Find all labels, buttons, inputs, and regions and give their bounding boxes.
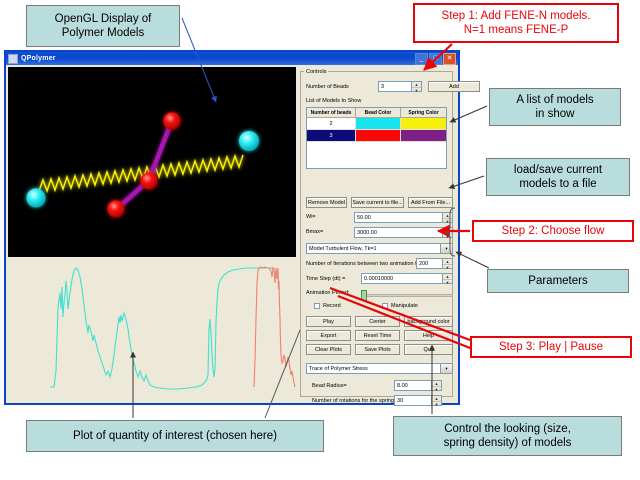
wi-label: Wi= — [306, 214, 316, 221]
window-titlebar[interactable]: QPolymer _ □ ✕ — [6, 52, 458, 65]
list-of-models-label: List of Models to Show — [306, 98, 361, 105]
manipulate-label: Manipulate — [391, 303, 418, 309]
app-icon — [8, 54, 18, 64]
callout-plot-line1: Plot of quantity of interest (chosen her… — [73, 429, 277, 443]
cell-beads: 2 — [307, 118, 356, 129]
export-button[interactable]: Export — [306, 330, 351, 341]
callout-step1-line2: N=1 means FENE-P — [464, 23, 569, 37]
controls-group-label: Controls — [304, 69, 328, 75]
reset-time-button[interactable]: Reset Time — [355, 330, 400, 341]
callout-parameters-line1: Parameters — [528, 274, 587, 288]
bead-radius-spinner[interactable]: ▲▼ — [431, 381, 441, 390]
qpolymer-window: QPolymer _ □ ✕ — [4, 50, 460, 405]
col-bead-color: Bead Color — [356, 108, 401, 117]
plot-display[interactable] — [8, 259, 296, 399]
clear-plots-button[interactable]: Clear Plots — [306, 344, 351, 355]
rotations-spinner[interactable]: ▲▼ — [431, 396, 441, 405]
stress-trace-plot — [8, 259, 296, 399]
iterations-spinner[interactable]: ▲▼ — [442, 259, 452, 268]
flow-model-select[interactable]: Model Turbulent Flow, Tk=1 ▼ — [306, 243, 453, 254]
callout-list-line1: A list of models — [516, 93, 593, 107]
animation-period-label: Animation Period: — [306, 290, 349, 297]
wi-spinner[interactable]: ▲▼ — [442, 213, 452, 222]
flow-model-value: Model Turbulent Flow, Tk=1 — [309, 246, 377, 252]
bead-red-mid — [141, 173, 158, 190]
bead-radius-label: Bead Radius= — [312, 383, 347, 390]
add-from-file-button[interactable]: Add From File... — [408, 197, 453, 208]
timestep-value: 0.00010000 — [364, 276, 393, 282]
callout-step3: Step 3: Play | Pause — [470, 336, 632, 358]
save-current-to-file-button[interactable]: Save current to file... — [351, 197, 404, 208]
maximize-button[interactable]: □ — [429, 53, 442, 65]
background-color-button[interactable]: background color — [404, 316, 453, 327]
bead-cyan-left — [27, 189, 46, 208]
animation-period-knob[interactable] — [361, 290, 367, 301]
cell-bead-color[interactable] — [356, 130, 401, 141]
cell-spring-color[interactable] — [401, 130, 446, 141]
play-button[interactable]: Play — [306, 316, 351, 327]
leader-parameters — [456, 252, 489, 268]
callout-list-line2: in show — [536, 107, 575, 121]
timestep-spinner[interactable]: ▲▼ — [442, 274, 452, 283]
col-number-of-beads: Number of beads — [307, 108, 356, 117]
controls-pane: Controls Number of Beads 3 ▲▼ Add List o… — [298, 67, 456, 399]
number-of-beads-value: 3 — [381, 84, 384, 90]
iterations-value: 200 — [419, 261, 428, 267]
callout-step3-line1: Step 3: Play | Pause — [499, 340, 603, 354]
bmax-spinner[interactable]: ▲▼ — [442, 228, 452, 237]
number-of-beads-input[interactable]: 3 ▲▼ — [378, 81, 422, 92]
timestep-input[interactable]: 0.00010000 ▲▼ — [361, 273, 453, 284]
quit-button[interactable]: Quit — [404, 344, 453, 355]
wi-input[interactable]: 50.00 ▲▼ — [354, 212, 453, 223]
callout-list: A list of models in show — [489, 88, 621, 126]
number-of-beads-label: Number of Beads — [306, 84, 349, 91]
models-table[interactable]: Number of beads Bead Color Spring Color … — [306, 107, 447, 169]
callout-looking-line1: Control the looking (size, — [444, 422, 571, 436]
window-title: QPolymer — [21, 55, 56, 62]
bead-red-top — [164, 113, 181, 130]
cell-bead-color[interactable] — [356, 118, 401, 129]
cell-beads: 3 — [307, 130, 356, 141]
callout-opengl: OpenGL Display of Polymer Models — [26, 5, 180, 47]
callout-plot: Plot of quantity of interest (chosen her… — [26, 420, 324, 452]
record-label: Record — [323, 303, 341, 309]
iterations-input[interactable]: 200 ▲▼ — [416, 258, 453, 269]
remove-model-button[interactable]: Remove Model — [306, 197, 347, 208]
rotations-value: 30 — [397, 398, 403, 404]
callout-step2-line1: Step 2: Choose flow — [502, 224, 605, 238]
add-button[interactable]: Add — [428, 81, 480, 92]
callout-loadsave-line1: load/save current — [514, 163, 602, 177]
callout-loadsave: load/save current models to a file — [486, 158, 630, 196]
bead-cyan-right — [239, 131, 259, 151]
table-row[interactable]: 2 — [307, 118, 446, 130]
save-plots-button[interactable]: Save Plots — [355, 344, 400, 355]
callout-step1: Step 1: Add FENE-N models. N=1 means FEN… — [413, 3, 619, 43]
bead-radius-input[interactable]: 8.00 ▲▼ — [394, 380, 442, 391]
close-button[interactable]: ✕ — [443, 53, 456, 65]
callout-looking: Control the looking (size, spring densit… — [393, 416, 622, 456]
number-of-beads-spinner[interactable]: ▲▼ — [411, 82, 421, 91]
bmax-input[interactable]: 3000.00 ▲▼ — [354, 227, 453, 238]
record-checkbox[interactable]: Record — [314, 303, 341, 309]
chevron-down-icon[interactable]: ▼ — [440, 244, 452, 253]
col-spring-color: Spring Color — [401, 108, 446, 117]
help-button[interactable]: Help — [404, 330, 453, 341]
polymer-scene — [8, 67, 296, 257]
cell-spring-color[interactable] — [401, 118, 446, 129]
callout-step2: Step 2: Choose flow — [472, 220, 634, 242]
callout-opengl-line1: OpenGL Display of — [55, 12, 152, 26]
bmax-value: 3000.00 — [357, 230, 377, 236]
callout-parameters: Parameters — [487, 269, 629, 293]
table-row[interactable]: 3 — [307, 130, 446, 142]
timestep-label: Time Step (dt) = — [306, 276, 345, 283]
bead-red-bottom — [108, 201, 125, 218]
callout-looking-line2: spring density) of models — [444, 436, 572, 450]
rotations-input[interactable]: 30 ▲▼ — [394, 395, 442, 406]
models-table-header: Number of beads Bead Color Spring Color — [307, 108, 446, 118]
screenshot-root: QPolymer _ □ ✕ — [0, 0, 640, 480]
checkbox-box[interactable] — [382, 303, 388, 309]
rotations-label: Number of rotations for the springs — [312, 398, 397, 405]
window-buttons: _ □ ✕ — [415, 53, 456, 65]
callout-loadsave-line2: models to a file — [519, 177, 596, 191]
checkbox-box[interactable] — [314, 303, 320, 309]
callout-opengl-line2: Polymer Models — [62, 26, 144, 40]
manipulate-checkbox[interactable]: Manipulate — [382, 303, 418, 309]
minimize-button[interactable]: _ — [415, 53, 428, 65]
bmax-label: Bmax= — [306, 229, 323, 236]
iterations-label: Number of Iterations between two animati… — [306, 261, 431, 268]
callout-step1-line1: Step 1: Add FENE-N models. — [442, 9, 591, 23]
opengl-display[interactable] — [8, 67, 296, 257]
wi-value: 50.00 — [357, 215, 371, 221]
animation-period-slider[interactable] — [361, 294, 453, 297]
plot-quantity-value: Trace of Polymer Stress — [309, 366, 368, 372]
plot-quantity-select[interactable]: Trace of Polymer Stress ▼ — [306, 363, 453, 374]
center-button[interactable]: Center — [355, 316, 400, 327]
bead-radius-value: 8.00 — [397, 383, 408, 389]
chevron-down-icon[interactable]: ▼ — [440, 364, 452, 373]
